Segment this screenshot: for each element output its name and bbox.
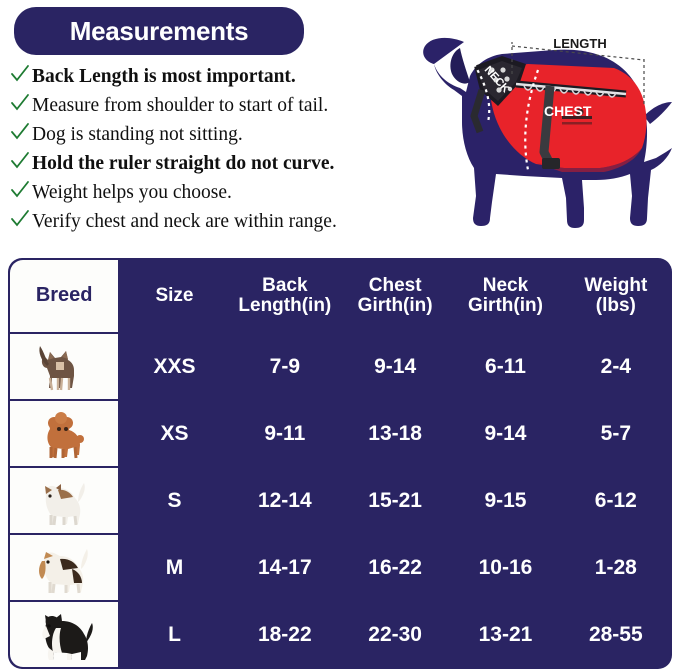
size-value: S <box>120 468 228 533</box>
instruction-text: Hold the ruler straight do not curve. <box>32 154 334 174</box>
size-value: XXS <box>120 334 228 399</box>
instruction-item: Back Length is most important. <box>10 62 410 91</box>
length-label: LENGTH <box>553 36 606 51</box>
back-length-value: 14-17 <box>231 535 339 600</box>
column-header-size: Size <box>120 260 228 332</box>
column-header-back-length: Back Length(in) <box>231 260 339 332</box>
weight-value: 5-7 <box>562 401 670 466</box>
check-icon <box>10 122 32 142</box>
size-value: L <box>120 602 228 667</box>
table-row: S 12-14 15-21 9-15 6-12 <box>10 468 670 533</box>
neck-girth-value: 6-11 <box>451 334 559 399</box>
breed-photo-cell <box>10 602 118 667</box>
chest-girth-value: 13-18 <box>341 401 449 466</box>
chest-girth-value: 16-22 <box>341 535 449 600</box>
back-length-value: 18-22 <box>231 602 339 667</box>
column-header-neck-girth: Neck Girth(in) <box>451 260 559 332</box>
chihuahua-photo <box>10 335 118 398</box>
chest-girth-value: 9-14 <box>341 334 449 399</box>
column-header-weight: Weight (lbs) <box>562 260 670 332</box>
breed-photo-cell <box>10 401 118 466</box>
size-chart-table: Breed Size Back Length(in) Chest Girth(i… <box>8 258 672 669</box>
instruction-text: Measure from shoulder to start of tail. <box>32 96 328 116</box>
jack-russell-terrier-photo <box>10 469 118 532</box>
neck-girth-value: 9-14 <box>451 401 559 466</box>
check-icon <box>10 151 32 171</box>
weight-value: 1-28 <box>562 535 670 600</box>
table-row: XS 9-11 13-18 9-14 5-7 <box>10 401 670 466</box>
check-icon <box>10 209 32 229</box>
weight-value: 2-4 <box>562 334 670 399</box>
neck-girth-value: 13-21 <box>451 602 559 667</box>
instructions-list: Back Length is most important. Measure f… <box>10 62 410 236</box>
breed-photo-cell <box>10 535 118 600</box>
back-length-value: 9-11 <box>231 401 339 466</box>
instruction-item: Weight helps you choose. <box>10 178 410 207</box>
instruction-text: Weight helps you choose. <box>32 183 232 203</box>
column-header-breed: Breed <box>10 260 118 332</box>
beagle-photo <box>10 536 118 599</box>
instruction-item: Dog is standing not sitting. <box>10 120 410 149</box>
size-value: M <box>120 535 228 600</box>
instruction-item: Measure from shoulder to start of tail. <box>10 91 410 120</box>
breed-photo-cell <box>10 334 118 399</box>
back-length-value: 12-14 <box>231 468 339 533</box>
size-value: XS <box>120 401 228 466</box>
column-header-chest-girth: Chest Girth(in) <box>341 260 449 332</box>
neck-girth-value: 9-15 <box>451 468 559 533</box>
instruction-text: Back Length is most important. <box>32 67 296 87</box>
border-collie-photo <box>10 603 118 666</box>
weight-value: 28-55 <box>562 602 670 667</box>
chest-label: CHEST <box>544 103 592 119</box>
instruction-item: Hold the ruler straight do not curve. <box>10 149 410 178</box>
table-header-row: Breed Size Back Length(in) Chest Girth(i… <box>10 260 670 332</box>
back-length-value: 7-9 <box>231 334 339 399</box>
breed-photo-cell <box>10 468 118 533</box>
weight-value: 6-12 <box>562 468 670 533</box>
table-row: XXS 7-9 9-14 6-11 2-4 <box>10 334 670 399</box>
check-icon <box>10 93 32 113</box>
neck-girth-value: 10-16 <box>451 535 559 600</box>
chest-girth-value: 22-30 <box>341 602 449 667</box>
check-icon <box>10 64 32 84</box>
page-title: Measurements <box>70 16 248 47</box>
check-icon <box>10 180 32 200</box>
table-row: M 14-17 16-22 10-16 1-28 <box>10 535 670 600</box>
instruction-item: Verify chest and neck are within range. <box>10 207 410 236</box>
dog-wearing-vest-diagram: LENGTH NECK CHEST <box>404 12 676 244</box>
instruction-text: Dog is standing not sitting. <box>32 125 243 145</box>
table-row: L 18-22 22-30 13-21 28-55 <box>10 602 670 667</box>
poodle-photo <box>10 402 118 465</box>
page-title-badge: Measurements <box>14 7 304 55</box>
chest-girth-value: 15-21 <box>341 468 449 533</box>
instruction-text: Verify chest and neck are within range. <box>32 212 337 232</box>
